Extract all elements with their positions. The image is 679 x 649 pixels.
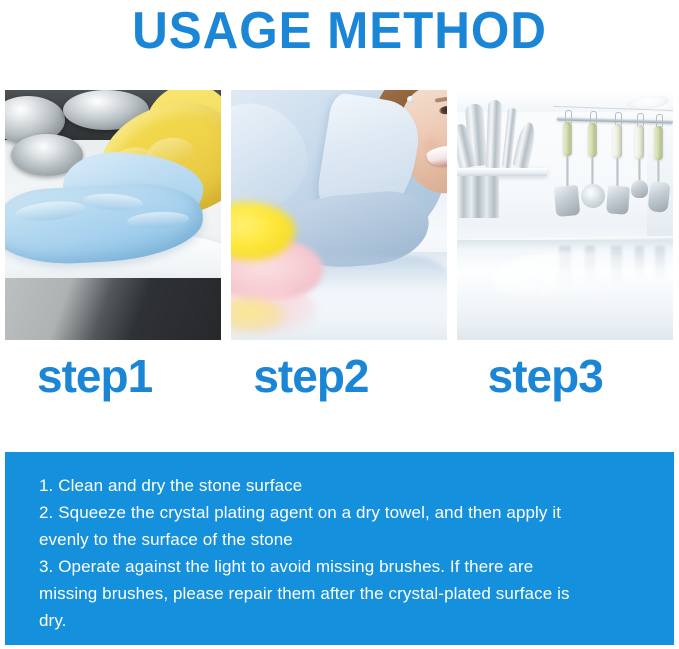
step-label-3: step3	[440, 348, 674, 406]
photo-strip	[5, 90, 674, 340]
photo3-utensil-handle	[654, 126, 663, 160]
photo3-ladle-head	[631, 180, 648, 198]
instruction-line: missing brushes, please repair them afte…	[39, 580, 640, 607]
instruction-line: 1. Clean and dry the stone surface	[39, 472, 640, 499]
photo1-floor-shadow	[5, 278, 221, 340]
photo3-utensil	[486, 100, 502, 168]
photo3-utensil-stem	[566, 156, 569, 188]
instructions-panel: 1. Clean and dry the stone surface 2. Sq…	[5, 452, 674, 645]
instruction-line: 2. Squeeze the crystal plating agent on …	[39, 499, 640, 526]
photo3-gloss-sheen	[493, 252, 643, 298]
instruction-line: evenly to the surface of the stone	[39, 526, 640, 553]
instruction-line: 3. Operate against the light to avoid mi…	[39, 553, 640, 580]
photo3-shelf	[457, 168, 547, 176]
photo3-masher-head	[647, 181, 670, 213]
photo3-utensil-stem	[616, 158, 619, 188]
photo3-utensil-stem	[591, 157, 594, 187]
photo3-slotted-turner-head	[606, 185, 630, 214]
photo3-whisk-head	[581, 184, 605, 208]
photo-step2	[231, 90, 447, 340]
step-label-1: step1	[5, 348, 223, 406]
photo2-earring	[407, 96, 414, 103]
photo3-utensil-handle	[588, 123, 597, 157]
photo3-utensil-handle	[635, 125, 644, 159]
step-labels: step1 step2 step3	[5, 348, 674, 406]
photo3-reflection	[655, 246, 665, 282]
photo3-utensil-handle	[613, 124, 622, 158]
photo-step1	[5, 90, 221, 340]
usage-method-infographic: USAGE METHOD	[0, 0, 679, 649]
instruction-line: dry.	[39, 607, 640, 634]
photo3-spatula-head	[554, 185, 581, 217]
step-label-2: step2	[223, 348, 439, 406]
photo3-utensil-holder	[457, 176, 499, 218]
photo-step3	[457, 90, 673, 340]
photo3-utensil-handle	[563, 122, 572, 156]
page-title: USAGE METHOD	[17, 2, 662, 60]
